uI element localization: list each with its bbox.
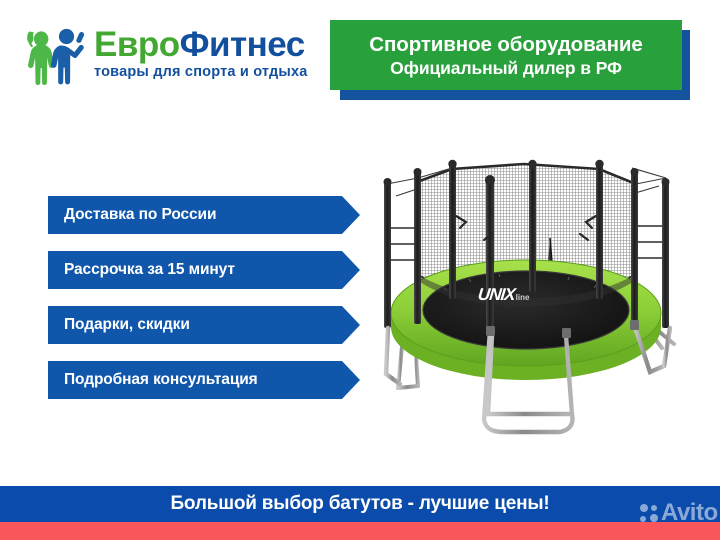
logo-text: ЕвроФитнес товары для спорта и отдыха bbox=[94, 27, 308, 81]
mat-brand-name: UNIX bbox=[477, 286, 515, 303]
bottom-banner-text: Большой выбор батутов - лучшие цены! bbox=[170, 493, 549, 515]
two-athletes-icon bbox=[22, 23, 92, 85]
logo-tagline: товары для спорта и отдыха bbox=[94, 64, 308, 81]
logo-word-part2: Фитнес bbox=[180, 25, 305, 64]
feature-label: Рассрочка за 15 минут bbox=[64, 251, 235, 289]
feature-item-consultation[interactable]: Подробная консультация bbox=[48, 361, 360, 399]
feature-label: Подробная консультация bbox=[64, 361, 258, 399]
feature-label: Доставка по России bbox=[64, 196, 216, 234]
logo-word-part1: Евро bbox=[94, 25, 180, 64]
product-image-trampoline: UNIX line bbox=[374, 138, 704, 460]
ad-banner-canvas: ЕвроФитнес товары для спорта и отдыха Сп… bbox=[0, 0, 720, 540]
header-banner: Спортивное оборудование Официальный диле… bbox=[330, 20, 682, 90]
bottom-banner: Большой выбор батутов - лучшие цены! bbox=[0, 486, 720, 522]
bottom-red-stripe bbox=[0, 522, 720, 540]
logo-wordmark: ЕвроФитнес bbox=[94, 27, 308, 63]
feature-item-delivery[interactable]: Доставка по России bbox=[48, 196, 360, 234]
avito-wordmark: Avito bbox=[661, 501, 718, 525]
feature-item-installment[interactable]: Рассрочка за 15 минут bbox=[48, 251, 360, 289]
mat-brand-logo: UNIX line bbox=[478, 283, 568, 303]
mat-brand-sub: line bbox=[516, 292, 530, 303]
feature-list: Доставка по России Рассрочка за 15 минут… bbox=[48, 196, 360, 416]
avito-watermark: Avito bbox=[640, 498, 718, 528]
feature-item-gifts[interactable]: Подарки, скидки bbox=[48, 306, 360, 344]
header-banner-line2: Официальный дилер в РФ bbox=[390, 57, 622, 79]
company-logo: ЕвроФитнес товары для спорта и отдыха bbox=[22, 18, 327, 90]
avito-dots-icon bbox=[640, 504, 659, 523]
header-banner-line1: Спортивное оборудование bbox=[369, 32, 642, 57]
feature-label: Подарки, скидки bbox=[64, 306, 190, 344]
